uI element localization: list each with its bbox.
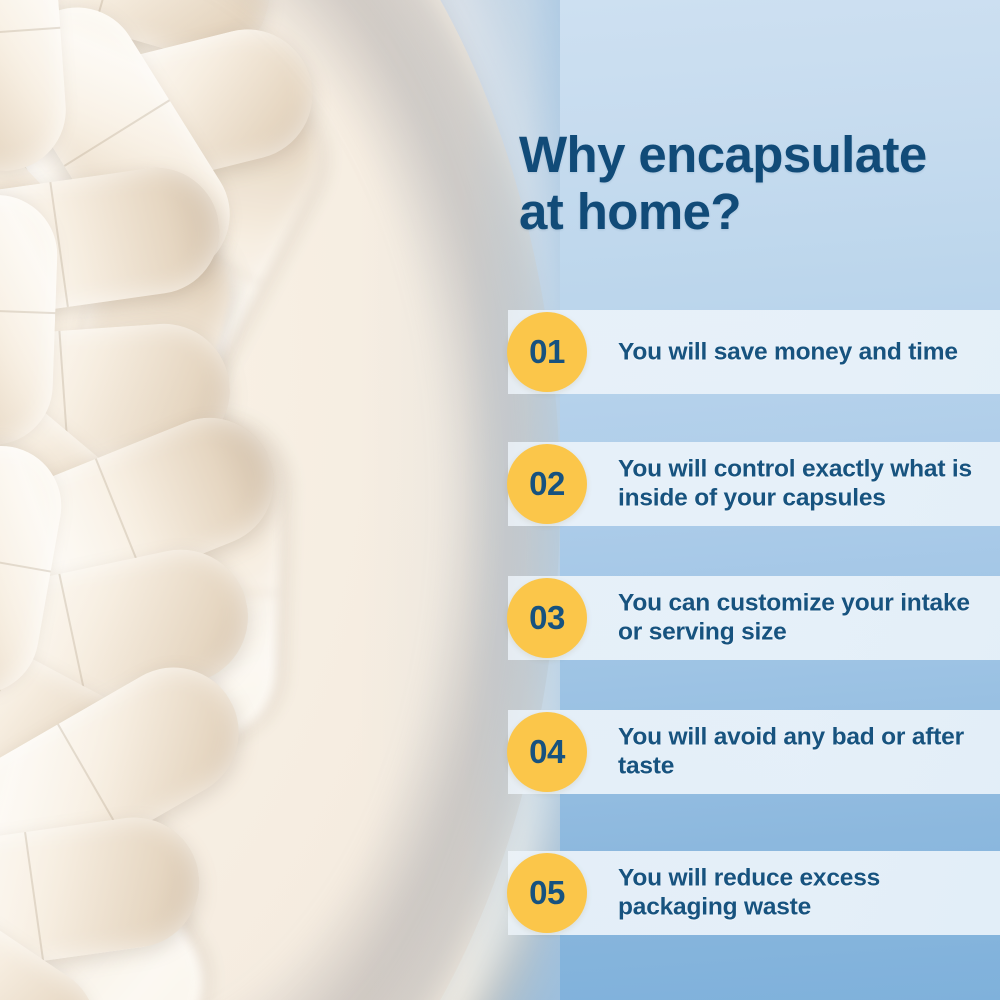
benefit-number-badge: 02 xyxy=(507,444,587,524)
benefit-text: You will reduce excess packaging waste xyxy=(618,864,1000,923)
benefit-number: 03 xyxy=(529,601,565,634)
page-title-line-2: at home? xyxy=(519,183,741,240)
benefit-number: 04 xyxy=(529,735,565,768)
benefit-row: 02 You will control exactly what is insi… xyxy=(0,442,1000,526)
page-title: Why encapsulate at home? xyxy=(519,126,989,240)
content-panel: Why encapsulate at home? 01 You will sav… xyxy=(0,0,1000,1000)
benefit-number: 01 xyxy=(529,335,565,368)
benefit-text: You will control exactly what is inside … xyxy=(618,455,1000,514)
benefit-number-badge: 05 xyxy=(507,853,587,933)
benefit-number: 05 xyxy=(529,876,565,909)
page-title-line-1: Why encapsulate xyxy=(519,126,927,183)
benefit-text: You will avoid any bad or after taste xyxy=(618,723,1000,782)
benefit-row: 03 You can customize your intake or serv… xyxy=(0,576,1000,660)
benefit-row: 04 You will avoid any bad or after taste xyxy=(0,710,1000,794)
poster-canvas: Why encapsulate at home? 01 You will sav… xyxy=(0,0,1000,1000)
benefit-number: 02 xyxy=(529,467,565,500)
benefit-number-badge: 04 xyxy=(507,712,587,792)
benefit-row: 01 You will save money and time xyxy=(0,310,1000,394)
benefit-number-badge: 01 xyxy=(507,312,587,392)
benefit-text: You will save money and time xyxy=(618,337,1000,366)
benefit-text: You can customize your intake or serving… xyxy=(618,589,1000,648)
benefit-number-badge: 03 xyxy=(507,578,587,658)
benefit-row: 05 You will reduce excess packaging wast… xyxy=(0,851,1000,935)
